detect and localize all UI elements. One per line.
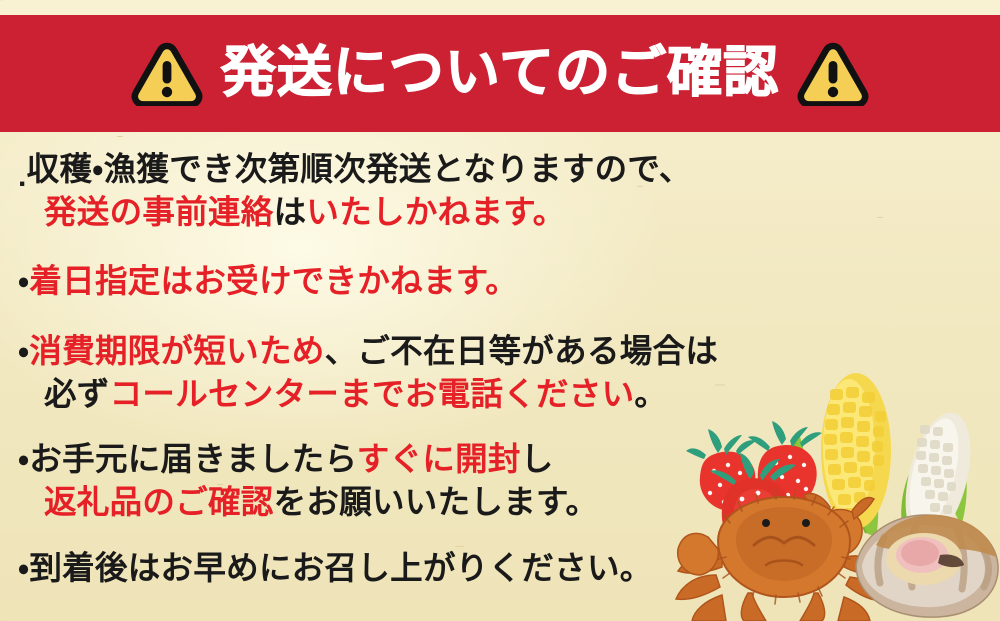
warning-triangle-icon bbox=[131, 42, 203, 106]
notice-item: .収穫・漁獲でき次第順次発送となりますので、 発送の事前連絡はいたしかねます。 bbox=[18, 148, 982, 234]
notice-text-segment: 必ず bbox=[44, 376, 110, 412]
notice-text-segment: し bbox=[521, 441, 554, 477]
notice-text-segment: 着日指定はお受けできかねます。 bbox=[29, 263, 518, 299]
notice-text-segment: 収穫・漁獲でき次第順次発送となりますので、 bbox=[27, 151, 692, 187]
notice-text-segment: いたしかねます。 bbox=[306, 194, 565, 230]
notice-text-segment: お手元に届きましたら bbox=[29, 441, 356, 477]
bullet-marker: ・ bbox=[18, 333, 29, 369]
notice-line: 必ずコールセンターまでお電話ください。 bbox=[18, 373, 982, 416]
bullet-marker: ・ bbox=[18, 441, 29, 477]
notice-item: ・到着後はお早めにお召し上がりください。 bbox=[18, 547, 982, 590]
notice-text-segment: コールセンターまでお電話ください bbox=[110, 376, 635, 412]
notice-text-segment: 。 bbox=[634, 376, 667, 412]
notice-text-segment: をお願いいたします。 bbox=[274, 484, 599, 520]
notice-text-segment: は bbox=[274, 194, 307, 230]
notice-text-segment: 到着後はお早めにお召し上がりください。 bbox=[29, 550, 652, 586]
notice-line: ・お手元に届きましたらすぐに開封し bbox=[18, 438, 982, 481]
header-band: 発送についてのご確認 bbox=[0, 15, 1000, 132]
page-title: 発送についてのご確認 bbox=[221, 45, 779, 100]
notice-line: ・消費期限が短いため、ご不在日等がある場合は bbox=[18, 330, 982, 373]
bullet-marker: . bbox=[18, 160, 27, 193]
notice-line: .収穫・漁獲でき次第順次発送となりますので、 bbox=[18, 148, 982, 191]
shipping-notice-banner: 発送についてのご確認 .収穫・漁獲でき次第順次発送となりますので、 発送の事前連… bbox=[0, 0, 1000, 621]
notice-item: ・着日指定はお受けできかねます。 bbox=[18, 260, 982, 303]
notice-line: ・到着後はお早めにお召し上がりください。 bbox=[18, 547, 982, 590]
notice-item: ・消費期限が短いため、ご不在日等がある場合は 必ずコールセンターまでお電話くださ… bbox=[18, 330, 982, 416]
notice-text-segment: 発送の事前連絡 bbox=[44, 194, 274, 230]
notice-line: 返礼品のご確認をお願いいたします。 bbox=[18, 481, 982, 524]
warning-triangle-icon bbox=[797, 42, 869, 106]
bullet-marker: ・ bbox=[18, 263, 29, 299]
notice-line: ・着日指定はお受けできかねます。 bbox=[18, 260, 982, 303]
notice-line: 発送の事前連絡はいたしかねます。 bbox=[18, 191, 982, 234]
notice-list: .収穫・漁獲でき次第順次発送となりますので、 発送の事前連絡はいたしかねます。 … bbox=[18, 148, 982, 600]
notice-text-segment: すぐに開封 bbox=[357, 441, 521, 477]
notice-text-segment: 消費期限が短いため bbox=[29, 333, 324, 369]
notice-text-segment: 、ご不在日等がある場合は bbox=[325, 333, 719, 369]
notice-item: ・お手元に届きましたらすぐに開封し 返礼品のご確認をお願いいたします。 bbox=[18, 438, 982, 524]
bullet-marker: ・ bbox=[18, 550, 29, 586]
notice-text-segment: 返礼品のご確認 bbox=[44, 484, 274, 520]
